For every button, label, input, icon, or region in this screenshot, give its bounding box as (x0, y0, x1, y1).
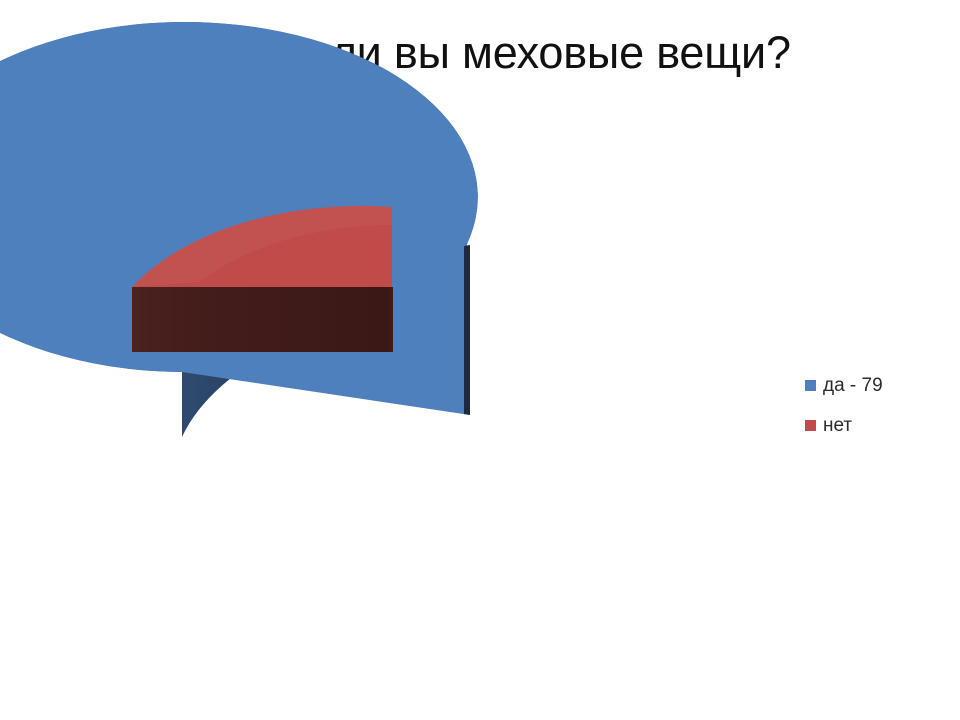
pie-slice-da-highlight (467, 244, 760, 415)
pie-slice-da-cut-edge (464, 245, 470, 415)
legend-item-da[interactable]: да - 79 (805, 372, 955, 398)
legend-label-net: нет (823, 416, 852, 435)
legend-label-da: да - 79 (823, 376, 883, 395)
pie-slice-da-top (0, 22, 478, 415)
legend-swatch-red (805, 420, 816, 431)
pie-slice-net-radial-face (389, 287, 393, 352)
chart-canvas: Носите ли вы меховые вещи? (0, 0, 960, 720)
chart-legend: да - 79 нет (805, 372, 955, 452)
legend-swatch-blue (805, 380, 816, 391)
pie-chart-graphic (0, 0, 960, 720)
legend-item-net[interactable]: нет (805, 412, 955, 438)
